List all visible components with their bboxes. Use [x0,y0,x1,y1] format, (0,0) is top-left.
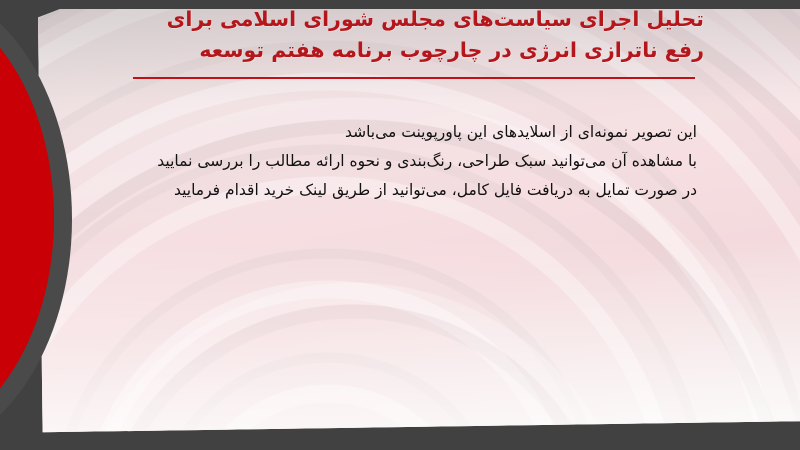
panel-bottom-highlight [38,239,800,435]
slide-title-line-2: رفع ناترازی انرژی در چارچوب برنامه هفتم … [84,35,704,66]
slide-title: تحلیل اجرای سیاست‌های مجلس شورای اسلامی … [84,4,704,66]
title-underline-rule [133,77,695,79]
slide-content-panel [38,9,800,434]
slide-title-line-1: تحلیل اجرای سیاست‌های مجلس شورای اسلامی … [84,4,704,35]
slide-body-line-1: این تصویر نمونه‌ای از اسلایدهای این پاور… [57,118,697,147]
slide-body-line-2: با مشاهده آن می‌توانید سبک طراحی، رنگ‌بن… [57,147,697,176]
slide-body-line-3: در صورت تمایل به دریافت فایل کامل، می‌تو… [57,176,697,205]
slide-canvas: تحلیل اجرای سیاست‌های مجلس شورای اسلامی … [0,0,800,450]
slide-body-text: این تصویر نمونه‌ای از اسلایدهای این پاور… [57,118,697,205]
